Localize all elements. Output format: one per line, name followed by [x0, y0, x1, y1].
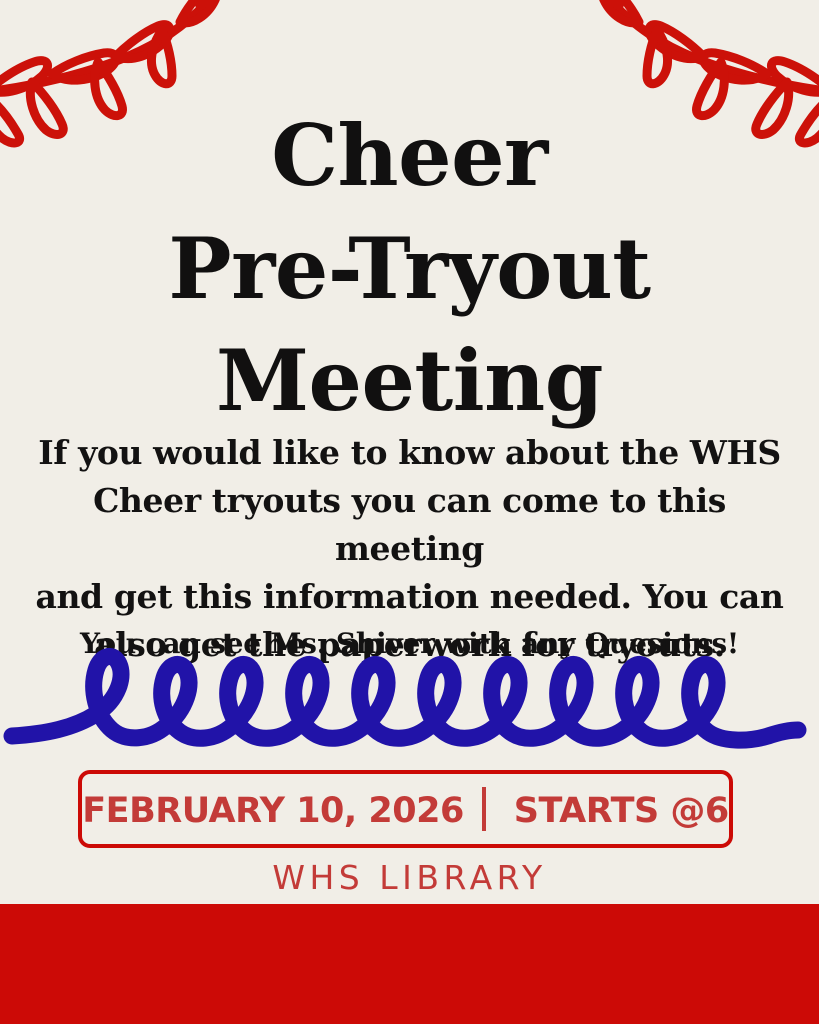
event-date: FEBRUARY 10, 2026 — [82, 791, 480, 831]
body-line-3: and get this information needed. You can — [18, 573, 801, 621]
bottom-accent-bar — [0, 904, 819, 1024]
poster-tagline: You can see Ms. Shiver with any Quesions… — [18, 625, 801, 663]
body-line-1: If you would like to know about the WHS — [18, 429, 801, 477]
headline-line-2: Pre-Tryout — [0, 213, 819, 326]
flyer-poster: Cheer Pre-Tryout Meeting If you would li… — [0, 0, 819, 1024]
date-time-text: FEBRUARY 10, 2026STARTS @6 — [82, 787, 729, 831]
headline-line-3: Meeting — [0, 325, 819, 438]
event-time: STARTS @6 — [488, 791, 729, 831]
date-time-box: FEBRUARY 10, 2026STARTS @6 — [78, 770, 733, 848]
body-line-2: Cheer tryouts you can come to this meeti… — [18, 477, 801, 573]
headline-line-1: Cheer — [0, 100, 819, 213]
poster-headline: Cheer Pre-Tryout Meeting — [0, 100, 819, 438]
date-time-divider — [482, 787, 486, 831]
event-venue: WHS LIBRARY — [0, 858, 819, 897]
